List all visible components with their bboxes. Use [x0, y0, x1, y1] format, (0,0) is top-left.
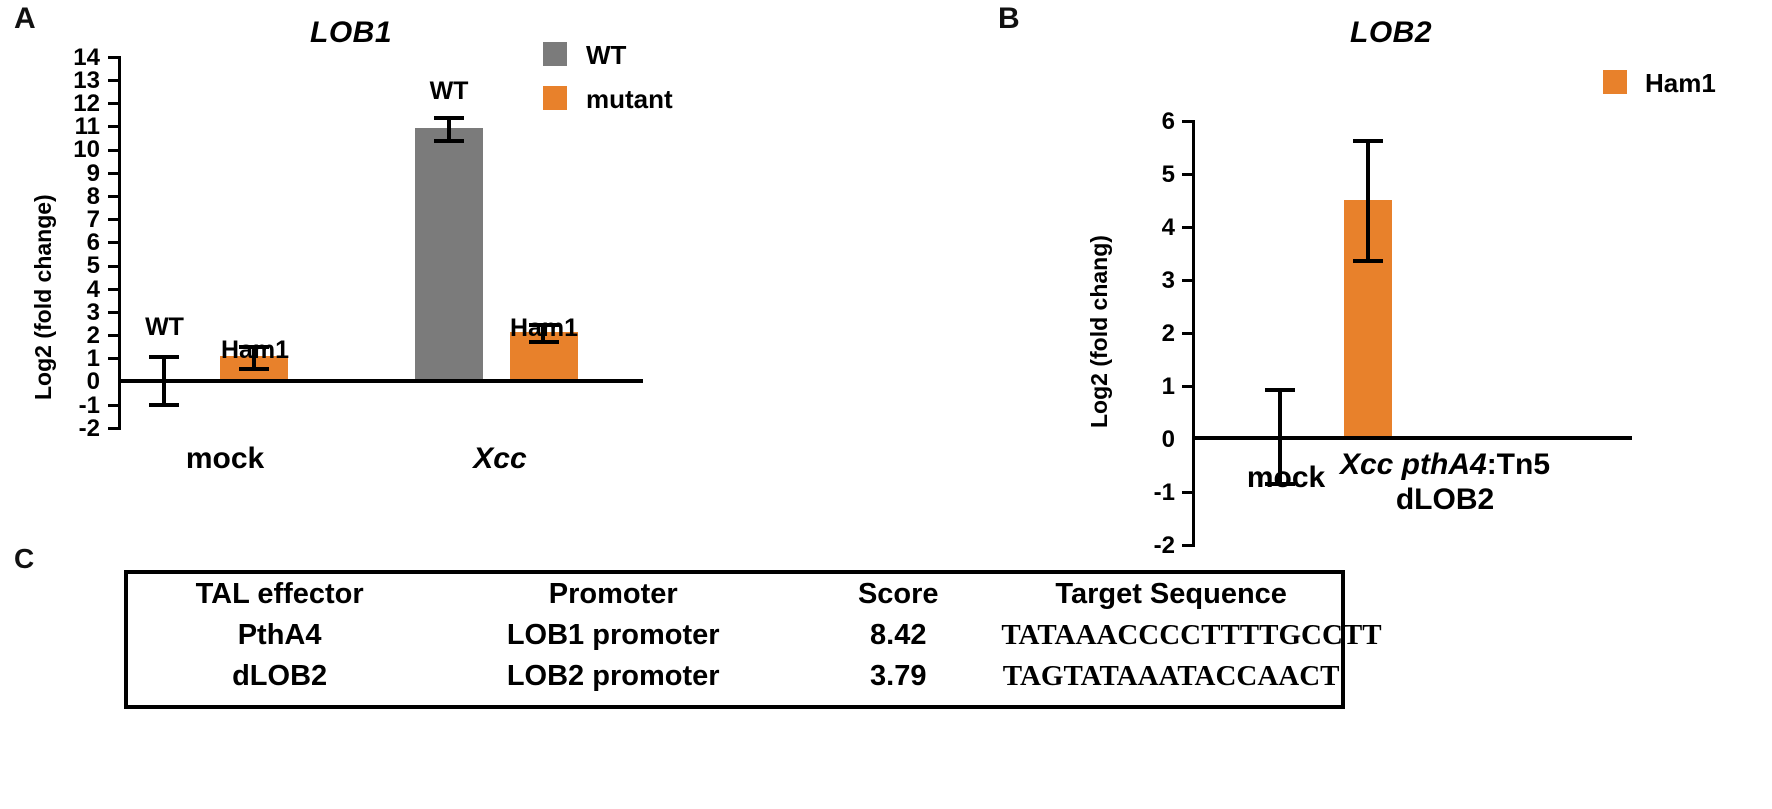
- column-header-target-sequence: Target Sequence: [1001, 574, 1341, 615]
- panel-b-ytick-6: 6: [1133, 110, 1175, 134]
- panel-b-title: LOB2: [1350, 18, 1432, 48]
- panel-a-errorbar-xcc-wt-cap-lower: [434, 139, 464, 143]
- cell-score: 8.42: [795, 615, 1001, 656]
- panel-b-ytick-3: 3: [1133, 269, 1175, 293]
- panel-a-group-label-mock: mock: [145, 443, 305, 475]
- tal-effector-table: TAL effector Promoter Score Target Seque…: [128, 574, 1341, 697]
- panel-a-ytick-neg2: -2: [48, 417, 100, 441]
- table-row: PthA4 LOB1 promoter 8.42 TATAAACCCCTTTTG…: [128, 615, 1341, 656]
- table-row: dLOB2 LOB2 promoter 3.79 TAGTATAAATACCAA…: [128, 656, 1341, 697]
- panel-a-y-axis-title: Log2 (fold change): [30, 194, 57, 400]
- panel-b-ytick-neg2: -2: [1124, 534, 1175, 558]
- panel-a-legend-label-mutant: mutant: [586, 86, 673, 112]
- panel-a-ytick-0: 0: [55, 370, 100, 394]
- panel-b-group-label-xcc-line2: dLOB2: [1300, 483, 1590, 518]
- panel-a-legend-label-wt: WT: [586, 42, 626, 68]
- panel-a-ytick-10: 10: [55, 138, 100, 162]
- panel-a-errorbar-mock-mutant-cap-lower: [239, 367, 269, 371]
- column-header-tal-effector: TAL effector: [128, 574, 431, 615]
- panel-a-barlabel-xcc-wt: WT: [404, 79, 494, 104]
- panel-a-zero-line: [118, 379, 643, 383]
- cell-target-sequence: TATAAACCCCTTTTGCCTT: [1001, 615, 1341, 656]
- panel-b-y-axis-title: Log2 (fold chang): [1086, 235, 1113, 428]
- column-header-score: Score: [795, 574, 1001, 615]
- panel-b-errorbar-xcc-stem: [1366, 139, 1370, 263]
- panel-a-bar-xcc-wt: [415, 128, 483, 379]
- panel-b-ytick-0: 0: [1133, 428, 1175, 452]
- cell-promoter: LOB2 promoter: [431, 656, 795, 697]
- panel-b-ytick-5: 5: [1133, 163, 1175, 187]
- panel-b-group-label-xcc: Xcc pthA4:Tn5 dLOB2: [1300, 448, 1590, 517]
- panel-c-table-box: TAL effector Promoter Score Target Seque…: [124, 570, 1345, 709]
- panel-b-group-label-xcc-tn5: :Tn5: [1487, 448, 1550, 481]
- panel-b-letter: B: [998, 4, 1020, 34]
- panel-a-barlabel-mock-wt: WT: [122, 315, 207, 340]
- panel-a-ytick-5: 5: [55, 254, 100, 278]
- panel-a-barlabel-xcc-mutant: Ham1: [489, 316, 599, 341]
- panel-a-letter: A: [14, 4, 36, 34]
- column-header-promoter: Promoter: [431, 574, 795, 615]
- panel-b-ytick-4: 4: [1133, 216, 1175, 240]
- panel-a-y-axis-line: [118, 56, 121, 429]
- panel-b-errorbar-mock-cap-upper: [1265, 388, 1295, 392]
- panel-c-letter: C: [14, 545, 34, 573]
- table-header-row: TAL effector Promoter Score Target Seque…: [128, 574, 1341, 615]
- panel-b-y-axis-line: [1192, 120, 1195, 546]
- panel-b-ytick-neg1: -1: [1124, 481, 1175, 505]
- panel-a-errorbar-mock-wt-stem: [162, 355, 166, 403]
- cell-target-sequence: TAGTATAAATACCAACT: [1001, 656, 1341, 697]
- panel-a-errorbar-mock-wt-cap-lower: [149, 403, 179, 407]
- panel-b-legend-swatch-ham1: [1603, 70, 1627, 94]
- table-header: TAL effector Promoter Score Target Seque…: [128, 574, 1341, 615]
- panel-b-errorbar-xcc-cap-upper: [1353, 139, 1383, 143]
- panel-a-group-label-xcc: Xcc: [420, 443, 580, 475]
- panel-b-zero-line: [1192, 436, 1632, 440]
- panel-b-errorbar-xcc-cap-lower: [1353, 259, 1383, 263]
- panel-a-errorbar-xcc-wt-cap-upper: [434, 116, 464, 120]
- cell-score: 3.79: [795, 656, 1001, 697]
- panel-b-group-label-xcc-line1: Xcc pthA4:Tn5: [1300, 448, 1590, 483]
- cell-tal-effector: PthA4: [128, 615, 431, 656]
- panel-a-legend-swatch-wt: [543, 42, 567, 66]
- panel-b-y-axis-title-wrap: Log2 (fold chang): [1086, 428, 1279, 455]
- table-body: PthA4 LOB1 promoter 8.42 TATAAACCCCTTTTG…: [128, 615, 1341, 697]
- panel-b-ytick-2: 2: [1133, 322, 1175, 346]
- panel-b-group-label-xcc-strain: Xcc pthA4: [1340, 448, 1487, 481]
- panel-a-title: LOB1: [310, 18, 392, 48]
- panel-b-legend-label-ham1: Ham1: [1645, 70, 1716, 96]
- panel-b-ytick-1: 1: [1133, 375, 1175, 399]
- panel-a-legend-swatch-mutant: [543, 86, 567, 110]
- panel-a-barlabel-mock-mutant: Ham1: [200, 338, 310, 363]
- cell-tal-effector: dLOB2: [128, 656, 431, 697]
- cell-promoter: LOB1 promoter: [431, 615, 795, 656]
- panel-a-errorbar-mock-wt-cap-upper: [149, 355, 179, 359]
